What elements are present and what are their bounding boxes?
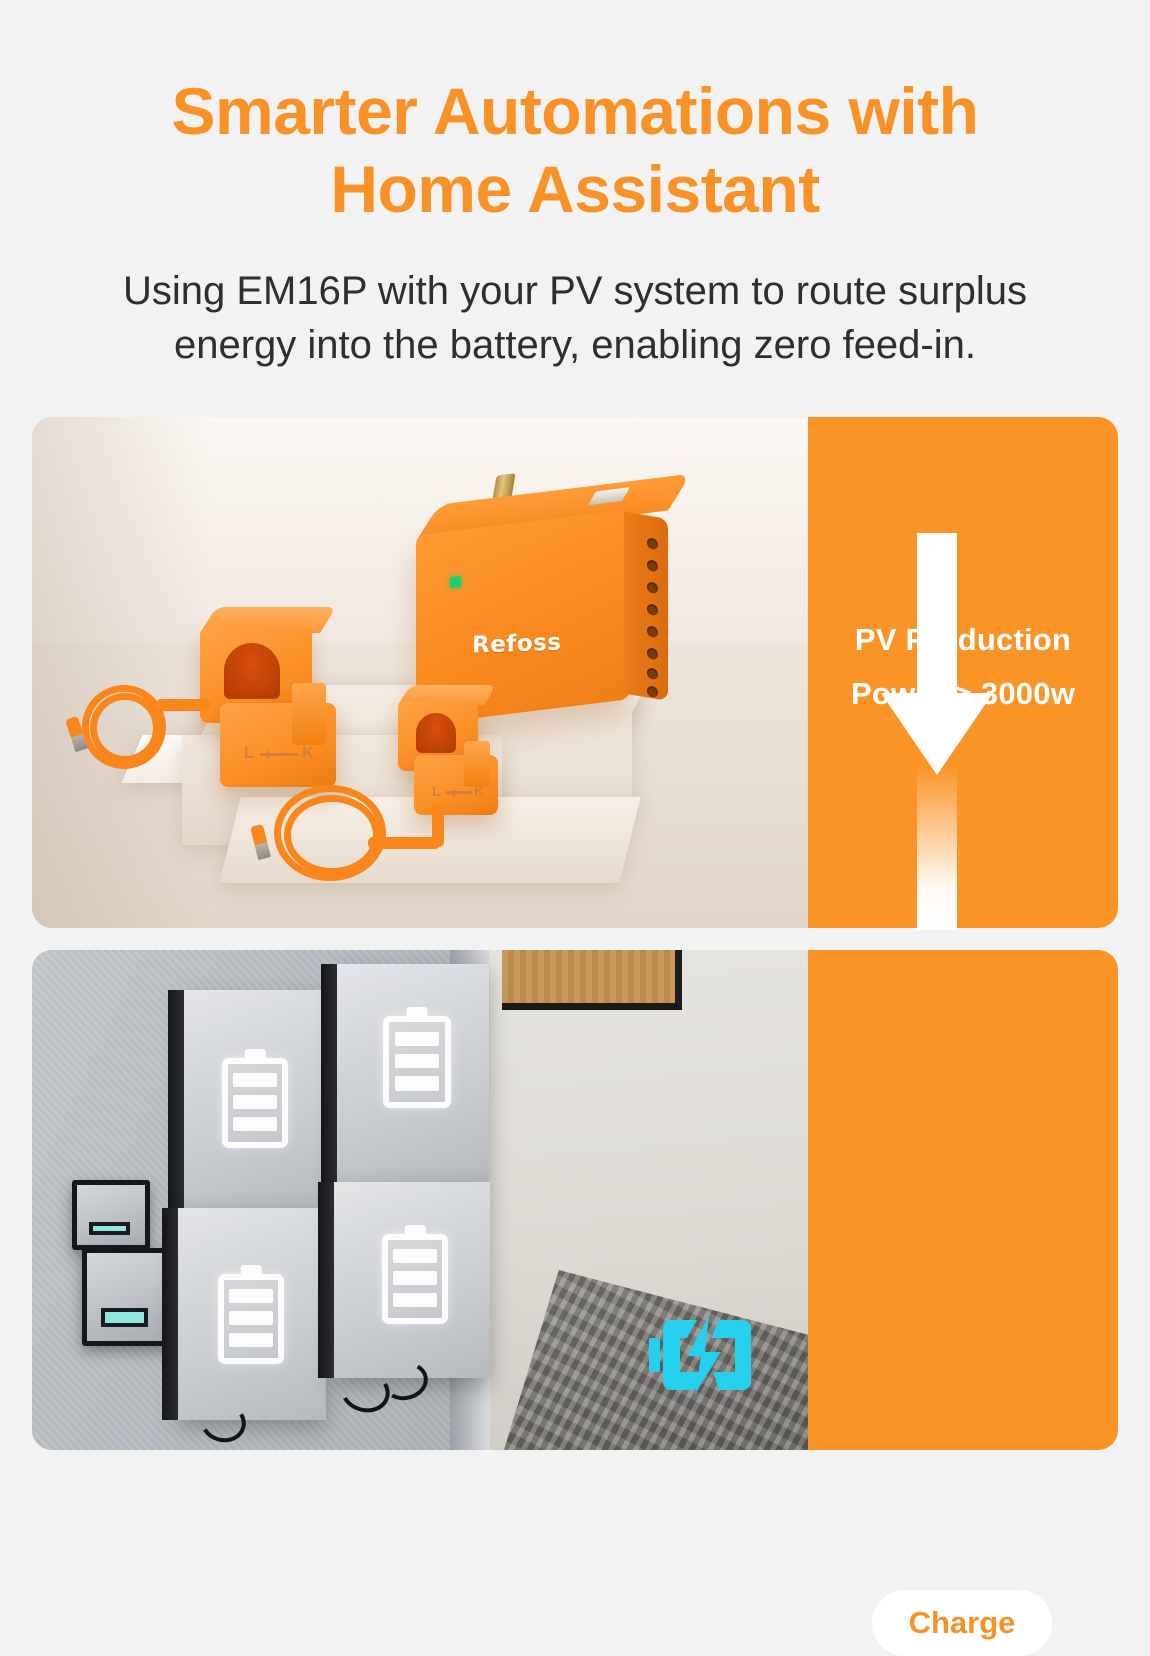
battery-charge-callout-panel: Charge	[808, 950, 1118, 1450]
battery-module-4-edge	[318, 1182, 334, 1378]
inverter-lower	[82, 1248, 170, 1346]
page-subtitle: Using EM16P with your PV system to route…	[30, 264, 1120, 372]
battery-module-1	[184, 990, 326, 1208]
battery-charging-icon	[645, 1312, 755, 1398]
clamp-mark-K: K	[302, 743, 316, 763]
battery-icon-1-bar-2	[233, 1095, 276, 1109]
studio-backdrop: Refoss	[32, 417, 808, 928]
battery-icon-3-bar-1	[229, 1289, 272, 1303]
clamp-direction-arrow-icon	[260, 753, 298, 756]
battery-module-2	[337, 964, 489, 1182]
battery-module-3-edge	[162, 1208, 178, 1420]
clamp-aperture	[224, 643, 280, 699]
battery-module-4	[334, 1182, 490, 1378]
clamp-small-aperture	[416, 713, 456, 753]
page-header: Smarter Automations with Home Assistant …	[0, 0, 1150, 372]
panel-row-battery-charge: Charge	[32, 950, 1118, 1450]
battery-icon-4-bar-3	[393, 1293, 436, 1307]
ct-port-1	[647, 537, 658, 550]
charge-button[interactable]: Charge	[872, 1590, 1052, 1656]
battery-icon-4-bar-1	[393, 1249, 436, 1263]
clamp-small-mark-L: L	[432, 783, 443, 799]
ct-clamp-small: L K	[398, 685, 506, 813]
energy-flow-arrow-shaft-lower	[917, 533, 957, 697]
product-photo-em16p: Refoss	[32, 417, 808, 928]
battery-module-3	[178, 1208, 326, 1420]
ct-port-5	[647, 625, 658, 638]
battery-icon-3-bar-2	[229, 1311, 272, 1325]
ct-port-4	[647, 603, 658, 616]
battery-icon-4	[382, 1234, 448, 1324]
energy-flow-arrow-shaft-upper	[917, 765, 957, 930]
battery-icon-1-bar-1	[233, 1073, 276, 1087]
ct-port-2	[647, 559, 658, 572]
battery-icon-2-bar-1	[395, 1032, 440, 1046]
battery-icon-3	[218, 1274, 284, 1364]
battery-icon-3-bar-3	[229, 1333, 272, 1347]
ct-clamp-large: L K	[200, 607, 348, 777]
ct-port-8	[647, 685, 658, 698]
battery-icon-1	[222, 1058, 288, 1148]
studio-shadow	[32, 417, 212, 928]
ct-cable-small	[368, 837, 440, 849]
battery-icon-2-bar-3	[395, 1076, 440, 1090]
ct-port-6	[647, 647, 658, 660]
ct-cable-large	[156, 699, 210, 711]
energy-flow-arrow-head-icon	[881, 693, 993, 775]
wooden-gate	[502, 950, 682, 1010]
ct-port-3	[647, 581, 658, 594]
clamp-small-direction-arrow-icon	[446, 791, 472, 794]
inverter-lower-display	[101, 1308, 148, 1327]
device-side-face	[624, 512, 668, 701]
inverter-upper	[72, 1180, 150, 1250]
clamp-small-latch	[464, 741, 490, 787]
clamp-small-mark-K: K	[474, 783, 486, 799]
battery-icon-1-bar-3	[233, 1117, 276, 1131]
ct-cable-coil-large-inner	[90, 693, 160, 763]
ct-port-7	[647, 667, 658, 680]
clamp-latch	[292, 683, 326, 745]
clamp-mark-L: L	[244, 743, 256, 763]
page-title: Smarter Automations with Home Assistant	[30, 72, 1120, 228]
battery-module-1-edge	[168, 990, 184, 1208]
ct-cable-coil-small-inner	[284, 795, 380, 875]
battery-module-2-edge	[321, 964, 337, 1182]
status-led-icon	[450, 576, 461, 588]
pv-production-callout-panel: PV Production Power > 3000w	[808, 417, 1118, 928]
battery-icon-2	[383, 1016, 451, 1108]
battery-icon-2-bar-2	[395, 1054, 440, 1068]
inverter-upper-display	[89, 1222, 130, 1235]
battery-icon-4-bar-2	[393, 1271, 436, 1285]
refoss-logo: Refoss	[472, 630, 562, 659]
